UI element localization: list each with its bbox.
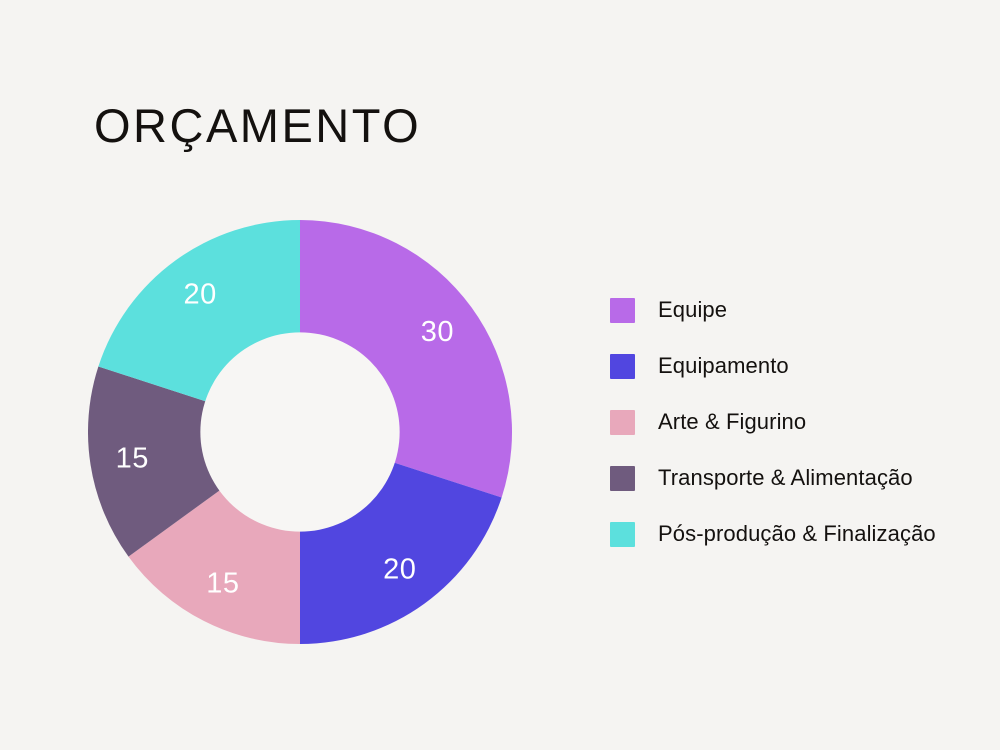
donut-chart: 3020151520 [88, 220, 512, 644]
legend-item-label: Transporte & Alimentação [658, 465, 913, 491]
chart-legend: EquipeEquipamentoArte & FigurinoTranspor… [610, 282, 990, 562]
page-title: ORÇAMENTO [94, 102, 421, 149]
donut-center-hole [200, 332, 399, 531]
legend-item-label: Equipamento [658, 353, 789, 379]
legend-item[interactable]: Equipe [610, 282, 990, 338]
legend-item-label: Equipe [658, 297, 727, 323]
legend-swatch-icon [610, 466, 635, 491]
slice-value-label: 30 [421, 316, 454, 348]
legend-swatch-icon [610, 522, 635, 547]
slice-value-label: 20 [184, 279, 217, 311]
slice-value-label: 20 [383, 553, 416, 585]
slice-value-label: 15 [206, 567, 239, 599]
slide-canvas: ORÇAMENTO 3020151520 EquipeEquipamentoAr… [0, 0, 1000, 750]
legend-swatch-icon [610, 354, 635, 379]
legend-swatch-icon [610, 298, 635, 323]
legend-item[interactable]: Pós-produção & Finalização [610, 506, 990, 562]
legend-swatch-icon [610, 410, 635, 435]
donut-chart-svg: 3020151520 [88, 220, 512, 644]
legend-item[interactable]: Equipamento [610, 338, 990, 394]
legend-item-label: Pós-produção & Finalização [658, 521, 936, 547]
slice-value-label: 15 [116, 443, 149, 475]
legend-item[interactable]: Transporte & Alimentação [610, 450, 990, 506]
legend-item-label: Arte & Figurino [658, 409, 806, 435]
legend-item[interactable]: Arte & Figurino [610, 394, 990, 450]
